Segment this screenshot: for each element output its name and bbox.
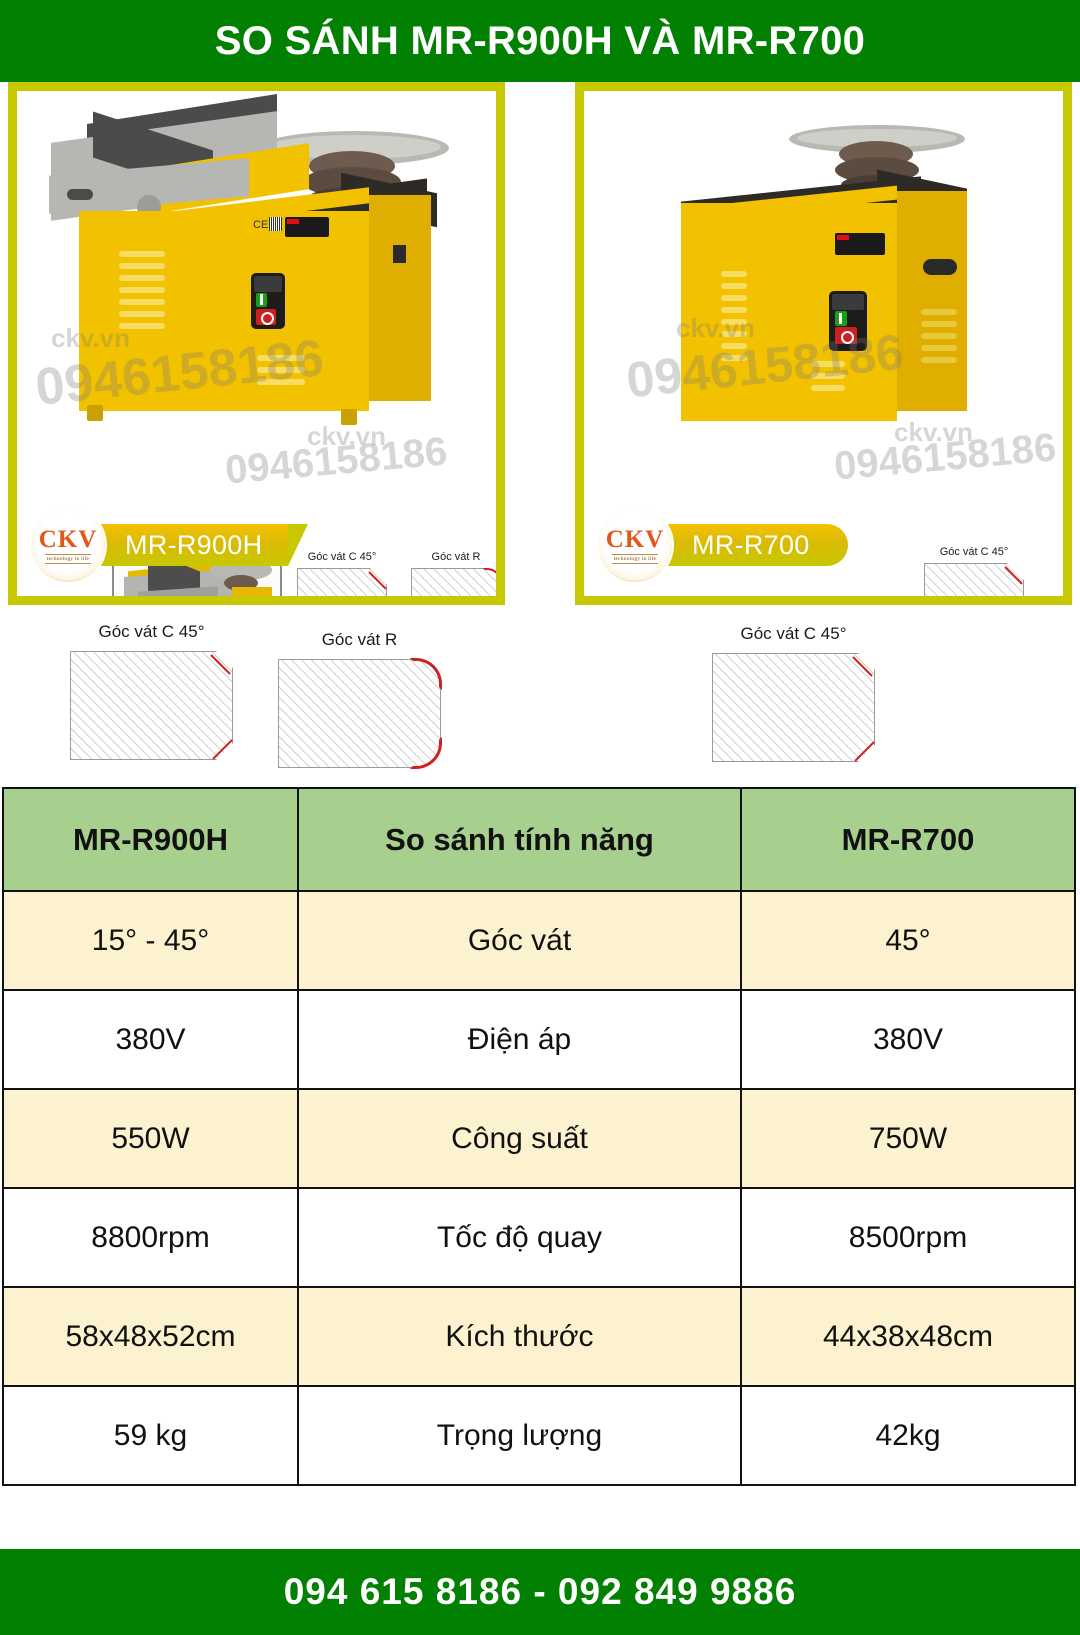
chamfer-shape bbox=[297, 568, 387, 605]
table-header-feature: So sánh tính năng bbox=[298, 788, 741, 891]
footer-contact-banner: 094 615 8186 - 092 849 9886 bbox=[0, 1549, 1080, 1635]
watermark-phone-2: 0946158186 bbox=[223, 429, 449, 493]
table-header-row: MR-R900H So sánh tính năng MR-R700 bbox=[3, 788, 1075, 891]
product-panel-mr-r700: ckv.vn 0946158186 ckv.vn 0946158186 Góc … bbox=[575, 82, 1072, 605]
cell-left-value: 15° - 45° bbox=[3, 891, 298, 990]
cell-feature: Góc vát bbox=[298, 891, 741, 990]
ckv-logo-tagline: technology in life bbox=[612, 554, 658, 564]
product-panels: CE ckv.vn 0946158186 ckv.vn 0946158186 bbox=[0, 82, 1080, 612]
bevel-diagram-label: Góc vát R bbox=[322, 630, 398, 650]
cell-feature: Điện áp bbox=[298, 990, 741, 1089]
rounded-shape bbox=[411, 568, 501, 605]
cell-right-value: 8500rpm bbox=[741, 1188, 1075, 1287]
comparison-table-wrapper: MR-R900H So sánh tính năng MR-R700 15° -… bbox=[2, 787, 1076, 1486]
chamfer-shape bbox=[70, 651, 233, 760]
ckv-logo-text: CKV bbox=[606, 527, 665, 552]
table-row: 8800rpm Tốc độ quay 8500rpm bbox=[3, 1188, 1075, 1287]
ckv-logo-text: CKV bbox=[39, 527, 98, 552]
machine-photo-mr-r700 bbox=[639, 113, 999, 443]
table-row: 380V Điện áp 380V bbox=[3, 990, 1075, 1089]
cell-feature: Công suất bbox=[298, 1089, 741, 1188]
contact-phone-numbers: 094 615 8186 - 092 849 9886 bbox=[284, 1571, 797, 1613]
table-header-right: MR-R700 bbox=[741, 788, 1075, 891]
bevel-diagram-chamfer: Góc vát C 45° bbox=[924, 546, 1024, 605]
ckv-logo-icon: CKV technology in life bbox=[598, 508, 672, 582]
table-header-left: MR-R900H bbox=[3, 788, 298, 891]
table-row: 59 kg Trọng lượng 42kg bbox=[3, 1386, 1075, 1485]
bevel-diagram-label: Góc vát C 45° bbox=[308, 551, 377, 563]
bevel-diagram-chamfer-left: Góc vát C 45° bbox=[70, 622, 233, 760]
ckv-logo-tagline: technology in life bbox=[45, 554, 91, 564]
model-name: MR-R900H bbox=[125, 530, 262, 561]
inset-bevel-diagrams-mr-r700: Góc vát C 45° bbox=[924, 546, 1024, 605]
header-banner: SO SÁNH MR-R900H VÀ MR-R700 bbox=[0, 0, 1080, 82]
brand-badge-mr-r700: CKV technology in life MR-R700 bbox=[598, 508, 848, 582]
table-row: 15° - 45° Góc vát 45° bbox=[3, 891, 1075, 990]
chamfer-shape bbox=[712, 653, 875, 762]
model-ribbon: MR-R900H bbox=[81, 524, 288, 566]
cell-right-value: 42kg bbox=[741, 1386, 1075, 1485]
bevel-diagram-strip: Góc vát C 45° Góc vát R Góc vát C 45° bbox=[0, 612, 1080, 787]
ckv-logo-icon: CKV technology in life bbox=[31, 508, 105, 582]
cell-right-value: 750W bbox=[741, 1089, 1075, 1188]
page-title: SO SÁNH MR-R900H VÀ MR-R700 bbox=[215, 19, 865, 64]
inset-bevel-diagrams-mr-r900h: Góc vát C 45° Góc vát R bbox=[297, 551, 501, 605]
brand-badge-mr-r900h: CKV technology in life MR-R900H bbox=[31, 508, 288, 582]
cell-left-value: 59 kg bbox=[3, 1386, 298, 1485]
rounded-shape bbox=[278, 659, 441, 768]
cell-right-value: 45° bbox=[741, 891, 1075, 990]
model-name: MR-R700 bbox=[692, 530, 810, 561]
bevel-diagram-round: Góc vát R bbox=[411, 551, 501, 605]
bevel-diagram-chamfer-right: Góc vát C 45° bbox=[712, 624, 875, 762]
cell-feature: Tốc độ quay bbox=[298, 1188, 741, 1287]
product-panel-mr-r900h: CE ckv.vn 0946158186 ckv.vn 0946158186 bbox=[8, 82, 505, 605]
cell-right-value: 380V bbox=[741, 990, 1075, 1089]
model-ribbon: MR-R700 bbox=[648, 524, 848, 566]
bevel-diagram-chamfer: Góc vát C 45° bbox=[297, 551, 387, 605]
cell-left-value: 8800rpm bbox=[3, 1188, 298, 1287]
cell-right-value: 44x38x48cm bbox=[741, 1287, 1075, 1386]
bevel-diagram-label: Góc vát C 45° bbox=[740, 624, 846, 644]
cell-feature: Kích thước bbox=[298, 1287, 741, 1386]
machine-photo-mr-r900h: CE bbox=[41, 109, 461, 439]
bevel-diagram-round-middle: Góc vát R bbox=[278, 630, 441, 768]
bevel-diagram-label: Góc vát C 45° bbox=[98, 622, 204, 642]
chamfer-shape bbox=[924, 563, 1024, 605]
table-row: 550W Công suất 750W bbox=[3, 1089, 1075, 1188]
bevel-diagram-label: Góc vát R bbox=[432, 551, 481, 563]
cell-left-value: 380V bbox=[3, 990, 298, 1089]
cell-left-value: 58x48x52cm bbox=[3, 1287, 298, 1386]
table-row: 58x48x52cm Kích thước 44x38x48cm bbox=[3, 1287, 1075, 1386]
bevel-diagram-label: Góc vát C 45° bbox=[940, 546, 1009, 558]
comparison-infographic: SO SÁNH MR-R900H VÀ MR-R700 bbox=[0, 0, 1080, 1635]
comparison-table: MR-R900H So sánh tính năng MR-R700 15° -… bbox=[2, 787, 1076, 1486]
cell-left-value: 550W bbox=[3, 1089, 298, 1188]
cell-feature: Trọng lượng bbox=[298, 1386, 741, 1485]
